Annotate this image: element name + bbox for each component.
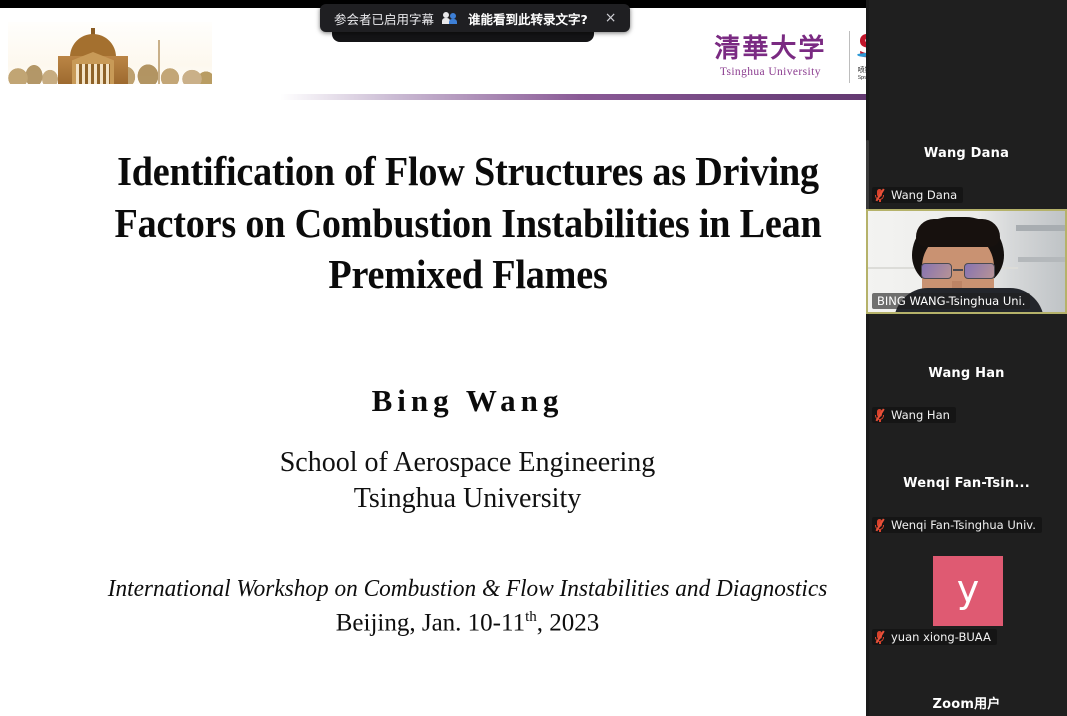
banner-ground: [8, 84, 212, 94]
mic-muted-icon: [874, 188, 885, 202]
banner-columns: [76, 64, 110, 84]
tsinghua-logo-en: Tsinghua University: [700, 66, 841, 78]
logo-divider: [849, 31, 850, 83]
avatar: y: [933, 556, 1003, 626]
participant-name-tag: Wang Dana: [872, 187, 963, 203]
scp-lab-name-cn: 喷雾燃烧与推进实验室: [858, 65, 866, 75]
slide-affiliation-line1: School of Aerospace Engineering: [0, 445, 866, 481]
slide-date-prefix: Beijing, Jan. 10-11: [336, 609, 525, 636]
participant-name-tag: yuan xiong-BUAA: [872, 629, 997, 645]
close-icon[interactable]: ×: [597, 7, 620, 29]
mic-icon-stem: [879, 419, 881, 422]
participant-display-name: Wang Dana: [866, 146, 1067, 161]
speaker-glasses: [920, 263, 996, 280]
slide-logos: 清華大学 Tsinghua University SCP 喷雾燃烧与推进实验室 …: [700, 20, 866, 94]
participant-tile[interactable]: Wang Han Wang Han: [866, 325, 1067, 429]
banner-flagpole: [158, 40, 160, 84]
participant-name-tag: Wenqi Fan-Tsinghua Univ.: [872, 517, 1042, 533]
shared-screen-region[interactable]: 清華大学 Tsinghua University SCP 喷雾燃烧与推进实验室 …: [0, 0, 866, 716]
mic-muted-icon: [874, 408, 885, 422]
slide-date-suffix: , 2023: [537, 609, 600, 636]
tsinghua-auditorium-banner-image: [8, 22, 212, 94]
mic-icon-stem: [879, 641, 881, 644]
tsinghua-logo-cn: 清華大学: [700, 36, 841, 63]
participant-tile[interactable]: y: [866, 556, 1067, 626]
mic-icon-stem: [879, 529, 881, 532]
people-icon-body-front: [449, 19, 457, 24]
slide-affiliation: School of Aerospace Engineering Tsinghua…: [0, 445, 866, 518]
slide-author: Bing Wang: [0, 383, 866, 419]
participant-display-name: Wang Han: [866, 366, 1067, 381]
slide-affiliation-line2: Tsinghua University: [0, 481, 866, 517]
slide-title: Identification of Flow Structures as Dri…: [86, 146, 849, 301]
caption-notice-link[interactable]: 谁能看到此转录文字?: [468, 9, 588, 28]
slide-event-name: International Workshop on Combustion & F…: [14, 576, 866, 603]
participant-tile[interactable]: Wang Dana Wang Dana: [866, 105, 1067, 209]
slide-event-date: Beijing, Jan. 10-11th, 2023: [0, 609, 866, 637]
avatar-initial: y: [957, 570, 980, 608]
video-background-shelf-upper: [1016, 225, 1067, 231]
mic-icon-stem: [879, 199, 881, 202]
participant-tile[interactable]: Zoom用户: [866, 655, 1067, 716]
glasses-right-lens: [964, 263, 995, 279]
participant-tag-name: yuan xiong-BUAA: [891, 630, 991, 644]
scp-lab-logo: SCP 喷雾燃烧与推进实验室 Spray Combustion & Propul…: [858, 26, 866, 88]
video-participant-name: BING WANG-Tsinghua Uni.: [872, 293, 1030, 309]
slide-date-superscript: th: [525, 609, 537, 625]
participant-display-name: Zoom用户: [866, 693, 1067, 712]
scp-lab-name-en: Spray Combustion & Propulsion: [858, 75, 866, 81]
participants-panel[interactable]: Wang Dana Wang Dana BING WANG-Tsinghua U…: [866, 0, 1067, 716]
tsinghua-logo: 清華大学 Tsinghua University: [700, 36, 841, 78]
active-speaker-video-tile[interactable]: BING WANG-Tsinghua Uni.: [866, 209, 1067, 314]
mic-muted-icon: [874, 518, 885, 532]
glasses-bridge: [953, 269, 963, 271]
participant-name-tag: Wang Han: [872, 407, 956, 423]
caption-notice-bar[interactable]: 参会者已启用字幕 谁能看到此转录文字? ×: [320, 4, 630, 32]
participant-tile[interactable]: Wenqi Fan-Tsin... Wenqi Fan-Tsinghua Uni…: [866, 435, 1067, 539]
slide-body: Identification of Flow Structures as Dri…: [0, 100, 866, 637]
participant-tag-name: Wang Han: [891, 408, 950, 422]
participant-tag-name: Wenqi Fan-Tsinghua Univ.: [891, 518, 1036, 532]
video-background-shelf-lower: [1018, 257, 1067, 262]
mic-muted-icon: [874, 630, 885, 644]
people-icon: [443, 11, 459, 25]
participant-display-name: Wenqi Fan-Tsin...: [866, 476, 1067, 491]
caption-notice-message: 参会者已启用字幕: [334, 9, 434, 28]
glasses-left-lens: [921, 263, 952, 279]
speaker-fringe: [916, 219, 1000, 247]
presentation-slide: 清華大学 Tsinghua University SCP 喷雾燃烧与推进实验室 …: [0, 8, 866, 716]
participant-tag-name: Wang Dana: [891, 188, 957, 202]
